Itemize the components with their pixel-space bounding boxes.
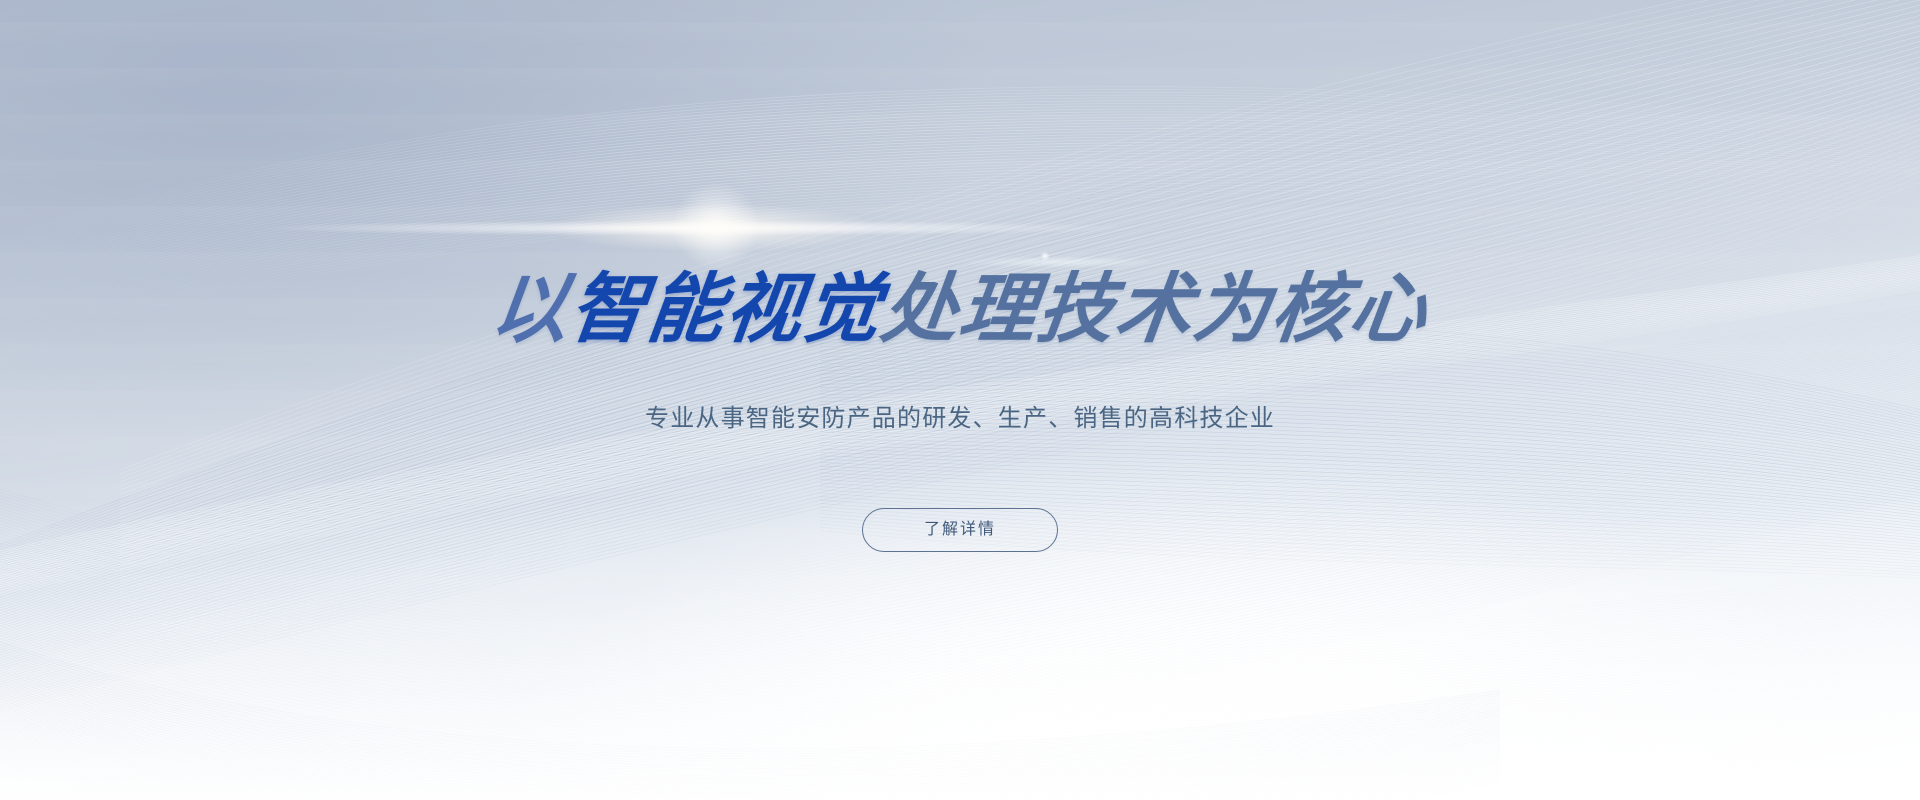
headline-segment-2: 智能视觉	[565, 267, 887, 352]
page-title: 以智能视觉处理技术为核心	[0, 268, 1920, 352]
learn-more-button[interactable]: 了解详情	[862, 508, 1058, 552]
headline-segment-3: 处理技术为核心	[877, 267, 1433, 352]
headline-segment-1: 以	[487, 267, 575, 352]
page-subtitle: 专业从事智能安防产品的研发、生产、销售的高科技企业	[0, 402, 1920, 436]
hero-content: 以智能视觉处理技术为核心 专业从事智能安防产品的研发、生产、销售的高科技企业 了…	[0, 0, 1920, 800]
cta-container: 了解详情	[0, 508, 1920, 552]
hero-banner: 以智能视觉处理技术为核心 专业从事智能安防产品的研发、生产、销售的高科技企业 了…	[0, 0, 1920, 800]
